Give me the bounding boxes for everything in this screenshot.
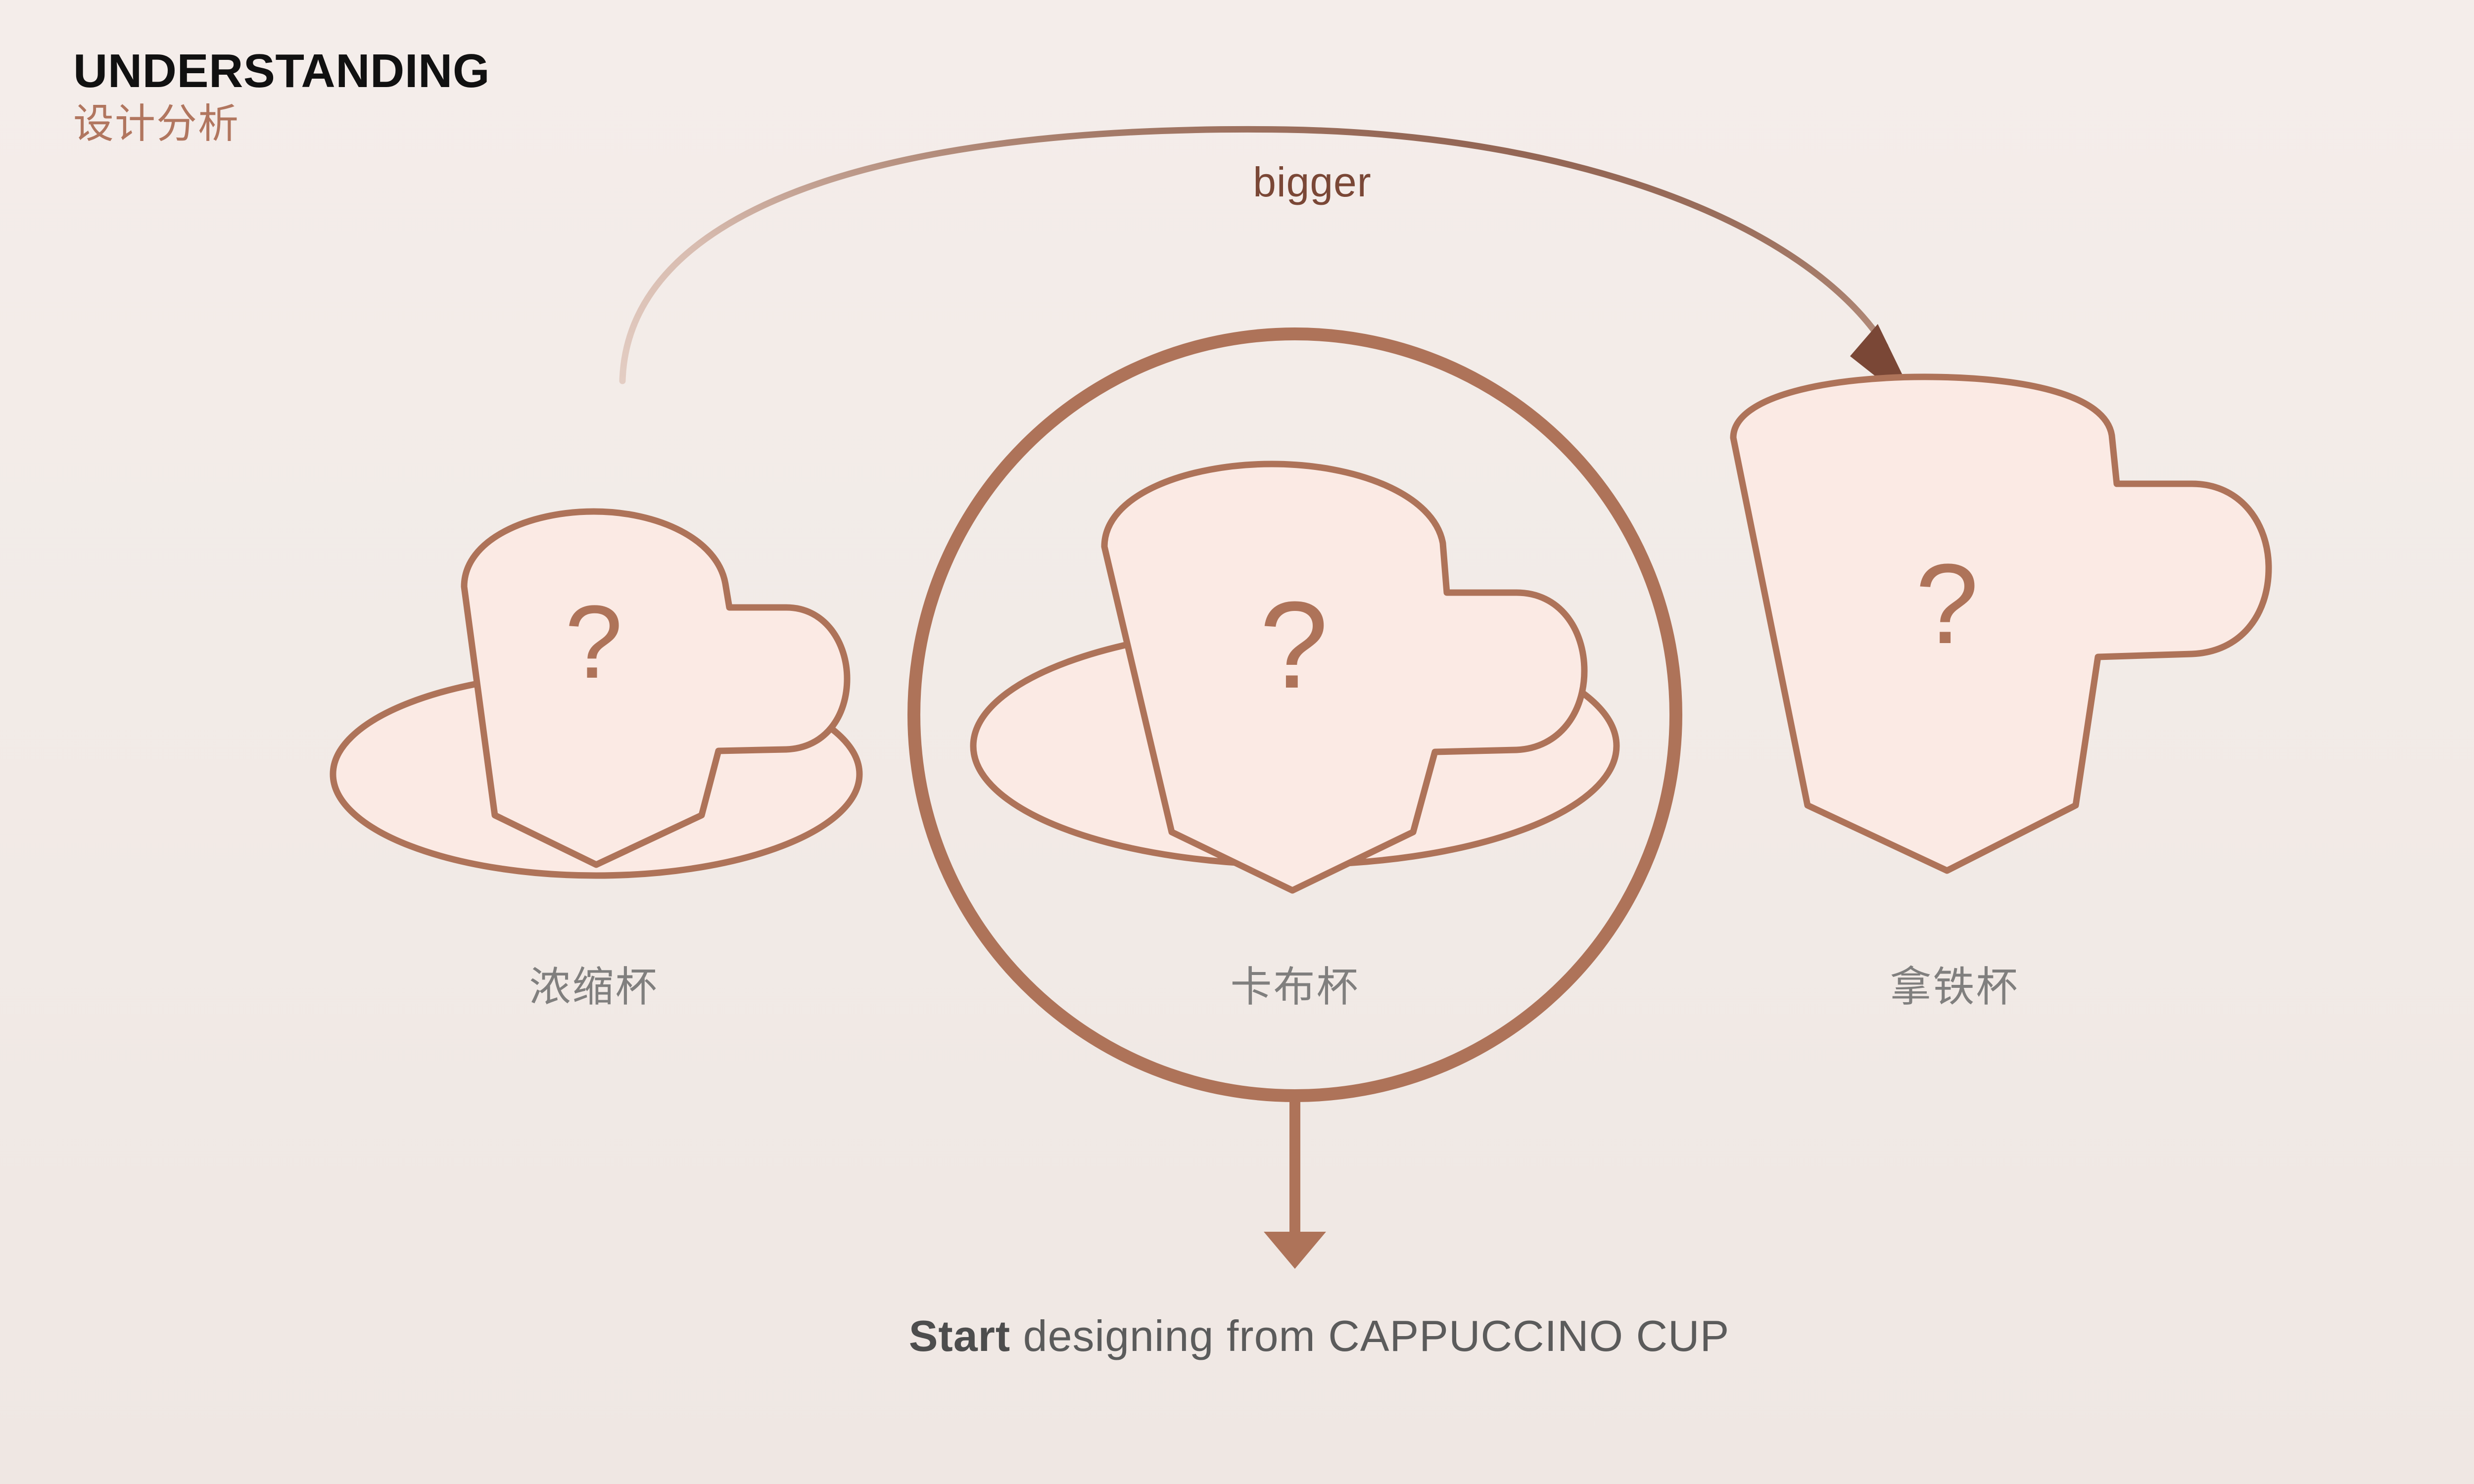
question-mark-cappuccino: ? (1259, 576, 1328, 714)
footer-rest-text: designing from CAPPUCCINO CUP (1010, 1311, 1729, 1360)
cup-espresso[interactable]: ? (333, 511, 859, 876)
down-arrow (1264, 1096, 1326, 1269)
bigger-arrowhead (1850, 324, 1903, 378)
bigger-label: bigger (1253, 158, 1372, 206)
question-mark-latte: ? (1915, 540, 1979, 667)
footer-callout: Start designing from CAPPUCCINO CUP (909, 1311, 1730, 1361)
footer-strong-word: Start (909, 1311, 1011, 1360)
caption-espresso: 浓缩杯 (529, 954, 658, 1014)
caption-latte: 拿铁杯 (1890, 954, 2019, 1014)
down-arrowhead (1264, 1232, 1326, 1269)
question-mark-espresso: ? (565, 584, 623, 700)
cup-body-latte (1733, 377, 2269, 871)
slide-canvas: UNDERSTANDING 设计分析 ? (0, 0, 2474, 1484)
cup-cappuccino[interactable]: ? (973, 464, 1617, 890)
caption-cappuccino: 卡布杯 (1230, 954, 1359, 1014)
cup-latte[interactable]: ? (1733, 377, 2269, 871)
diagram-artwork: ? ? ? (0, 0, 2474, 1484)
